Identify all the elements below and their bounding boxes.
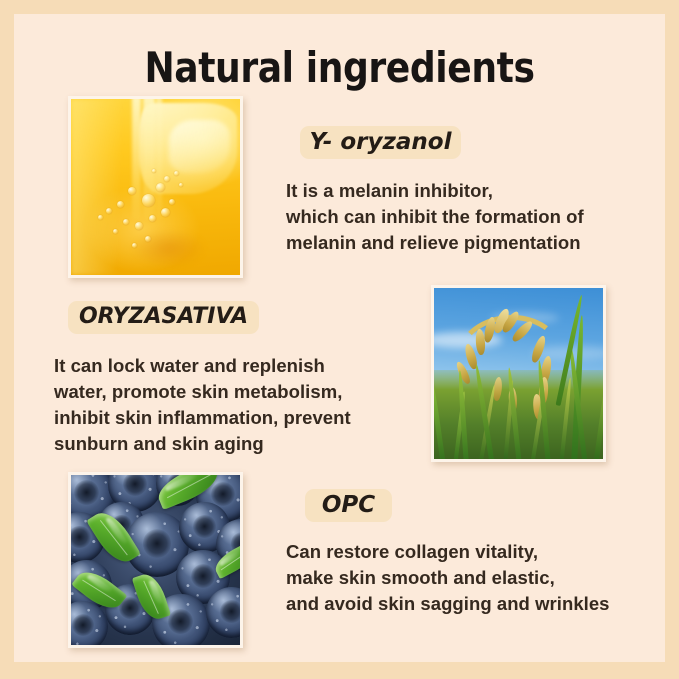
orange-juice-photo: [68, 96, 243, 278]
bubble-icon: [142, 194, 155, 207]
ingredient-description-oryzasativa: It can lock water and replenish water, p…: [54, 353, 404, 457]
ice-cube-highlight: [169, 120, 230, 173]
rice-field-artwork: [434, 288, 603, 459]
blueberries-photo: [68, 472, 243, 648]
juice-left-highlight: [71, 99, 125, 275]
orange-juice-artwork: [71, 99, 240, 275]
ingredient-label-opc: OPC: [305, 489, 392, 522]
rice-field-photo: [431, 285, 606, 462]
ingredient-label-oryzasativa: ORYZASATIVA: [68, 301, 259, 334]
ingredients-infographic: Natural ingredients: [0, 0, 679, 679]
page-title: Natural ingredients: [60, 43, 620, 93]
ingredient-description-opc: Can restore collagen vitality, make skin…: [286, 539, 656, 617]
bubble-icon: [156, 183, 165, 192]
bubble-icon: [149, 215, 156, 222]
ingredient-label-oryzanol: Y- oryzanol: [300, 126, 461, 159]
juice-pour-stream: [132, 99, 141, 219]
juice-pour-stream: [156, 99, 162, 219]
bubble-icon: [117, 201, 124, 208]
content-panel: Natural ingredients: [14, 14, 665, 662]
juice-pool-shadow: [132, 229, 206, 268]
bubble-icon: [161, 208, 170, 217]
blueberries-artwork: [71, 475, 240, 645]
ingredient-description-oryzanol: It is a melanin inhibitor, which can inh…: [286, 178, 646, 256]
